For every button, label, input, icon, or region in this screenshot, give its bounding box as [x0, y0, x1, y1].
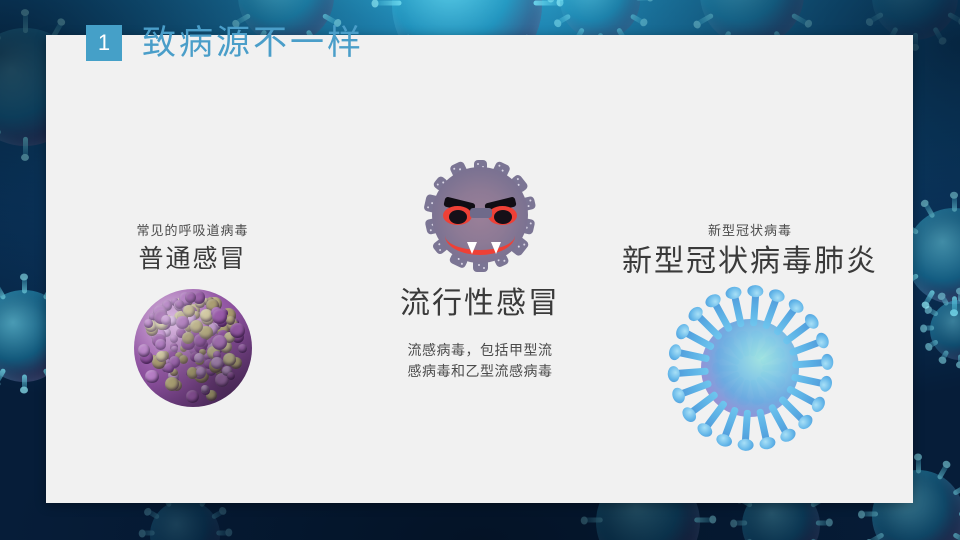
- coronavirus-spike: [756, 408, 771, 445]
- influenza-subtitle-line2: 感病毒和乙型流感病毒: [355, 362, 605, 383]
- covid19-caption: 新型冠状病毒: [605, 222, 895, 242]
- column-covid19: 新型冠状病毒 新型冠状病毒肺炎: [605, 222, 895, 448]
- common-cold-name: 普通感冒: [95, 242, 290, 276]
- coronavirus-spike: [788, 337, 824, 356]
- cartoon-virus-mouth: [445, 216, 515, 255]
- common-cold-caption: 常见的呼吸道病毒: [95, 222, 290, 242]
- section-number-badge: 1: [86, 25, 122, 61]
- column-influenza: 流行性感冒 流感病毒，包括甲型流 感病毒和乙型流感病毒: [355, 160, 605, 383]
- column-common-cold: 常见的呼吸道病毒 普通感冒: [95, 222, 290, 407]
- rhinovirus-shading: [134, 289, 252, 407]
- cartoon-virus-illustration: [415, 160, 545, 278]
- rhinovirus-illustration: [134, 289, 252, 407]
- cartoon-virus-fang-left: [467, 242, 477, 254]
- covid19-name: 新型冠状病毒肺炎: [605, 242, 895, 283]
- page-title: 致病源不一样: [142, 26, 364, 60]
- slide-header: 1 致病源不一样: [86, 25, 364, 61]
- influenza-subtitle-line1: 流感病毒，包括甲型流: [355, 341, 605, 362]
- coronavirus-illustration: [670, 288, 830, 448]
- influenza-name: 流行性感冒: [355, 284, 605, 325]
- cartoon-virus-fang-right: [491, 242, 501, 254]
- presentation-slide: 1 致病源不一样 常见的呼吸道病毒 普通感冒 流行性感冒 流感病毒，包括甲型流 …: [0, 0, 960, 540]
- coronavirus-spike: [792, 359, 828, 369]
- coronavirus-spike: [790, 373, 827, 387]
